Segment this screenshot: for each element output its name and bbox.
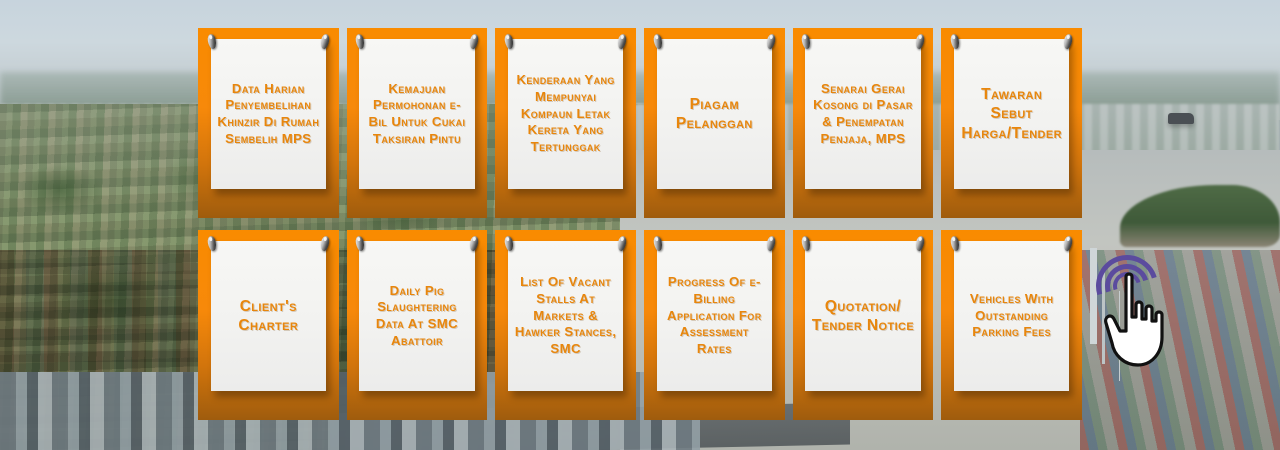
quick-link-card[interactable]: Senarai Gerai Kosong di Pasar & Penempat… [793,28,934,218]
pushpin-left-icon [355,235,365,251]
pushpin-right-icon [320,235,330,251]
pushpin-right-icon [766,235,776,251]
card-sheet[interactable]: Client's Charter [211,241,326,391]
card-sheet[interactable]: Data Harian Penyembelihan Khinzir Di Rum… [211,39,326,189]
quick-link-card[interactable]: Daily Pig Slaughtering Data At SMC Abatt… [347,230,488,420]
card-title: Kenderaan Yang Mempunyai Kompaun Letak K… [512,72,619,155]
port-crane [1090,248,1097,344]
quick-link-card[interactable]: Kenderaan Yang Mempunyai Kompaun Letak K… [495,28,636,218]
pushpin-right-icon [617,33,627,49]
card-title: Quotation/ Tender Notice [809,297,916,336]
pushpin-right-icon [914,235,924,251]
pushpin-left-icon [950,235,960,251]
card-sheet[interactable]: Vehicles With Outstanding Parking Fees [954,241,1069,391]
pushpin-right-icon [766,33,776,49]
card-title: List Of Vacant Stalls At Markets & Hawke… [512,274,619,357]
quick-link-card[interactable]: Piagam Pelanggan [644,28,785,218]
card-sheet[interactable]: Kenderaan Yang Mempunyai Kompaun Letak K… [508,39,623,189]
quick-link-card[interactable]: Kemajuan Permohonan e-Bil Untuk Cukai Ta… [347,28,488,218]
quick-link-card[interactable]: Data Harian Penyembelihan Khinzir Di Rum… [198,28,339,218]
card-sheet[interactable]: Tawaran Sebut Harga/Tender [954,39,1069,189]
quick-link-card[interactable]: List Of Vacant Stalls At Markets & Hawke… [495,230,636,420]
pushpin-left-icon [504,33,514,49]
quick-link-card[interactable]: Quotation/ Tender Notice [793,230,934,420]
pushpin-right-icon [914,33,924,49]
card-title: Piagam Pelanggan [661,95,768,134]
card-title: Vehicles With Outstanding Parking Fees [958,291,1065,341]
quick-link-card[interactable]: Vehicles With Outstanding Parking Fees [941,230,1082,420]
card-sheet[interactable]: Progress Of e-Billing Application For As… [657,241,772,391]
card-sheet[interactable]: Piagam Pelanggan [657,39,772,189]
pushpin-right-icon [617,235,627,251]
pushpin-left-icon [652,33,662,49]
card-sheet[interactable]: Kemajuan Permohonan e-Bil Untuk Cukai Ta… [359,39,474,189]
pushpin-right-icon [468,235,478,251]
card-sheet[interactable]: Senarai Gerai Kosong di Pasar & Penempat… [805,39,920,189]
pushpin-right-icon [1063,235,1073,251]
card-sheet[interactable]: List Of Vacant Stalls At Markets & Hawke… [508,241,623,391]
pushpin-left-icon [206,235,216,251]
pushpin-left-icon [801,33,811,49]
card-sheet[interactable]: Daily Pig Slaughtering Data At SMC Abatt… [359,241,474,391]
pushpin-left-icon [206,33,216,49]
card-title: Kemajuan Permohonan e-Bil Untuk Cukai Ta… [363,81,470,148]
card-title: Tawaran Sebut Harga/Tender [958,85,1065,144]
pushpin-left-icon [652,235,662,251]
card-sheet[interactable]: Quotation/ Tender Notice [805,241,920,391]
card-title: Daily Pig Slaughtering Data At SMC Abatt… [363,283,470,350]
pushpin-left-icon [355,33,365,49]
card-title: Data Harian Penyembelihan Khinzir Di Rum… [215,81,322,148]
card-title: Client's Charter [215,297,322,336]
pushpin-left-icon [504,235,514,251]
quick-link-card[interactable]: Tawaran Sebut Harga/Tender [941,28,1082,218]
pushpin-right-icon [468,33,478,49]
pushpin-left-icon [801,235,811,251]
pushpin-left-icon [950,33,960,49]
screen: Data Harian Penyembelihan Khinzir Di Rum… [0,0,1280,450]
quick-link-grid: Data Harian Penyembelihan Khinzir Di Rum… [198,28,1082,420]
container-port [1080,250,1280,450]
pushpin-right-icon [1063,33,1073,49]
card-title: Progress Of e-Billing Application For As… [661,274,768,357]
card-title: Senarai Gerai Kosong di Pasar & Penempat… [809,81,916,148]
pushpin-right-icon [320,33,330,49]
quick-link-card[interactable]: Client's Charter [198,230,339,420]
cargo-boat [1168,113,1194,124]
quick-link-card[interactable]: Progress Of e-Billing Application For As… [644,230,785,420]
